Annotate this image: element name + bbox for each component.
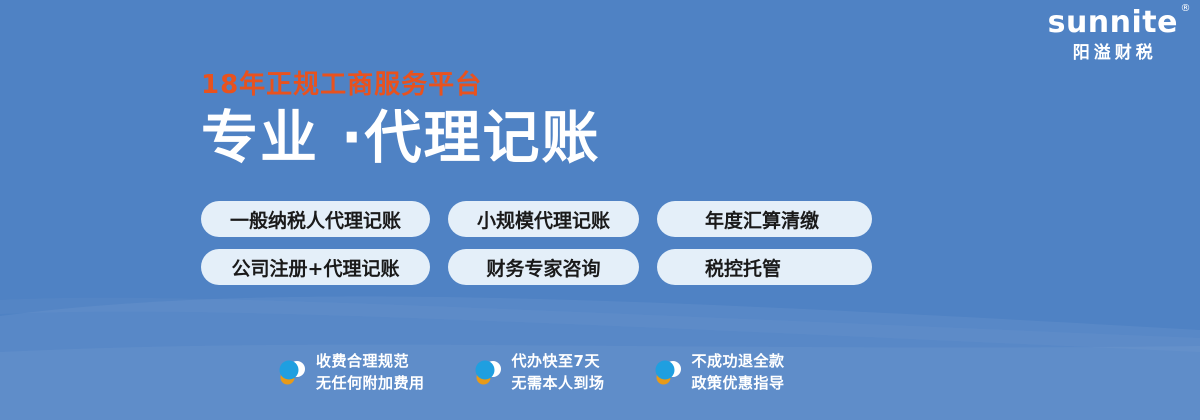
promo-banner: sunnite ® 阳溢财税 18年正规工商服务平台 专业 ·代理记账 一般纳税… — [0, 0, 1200, 420]
feature-item-pricing: 收费合理规范 无任何附加费用 — [276, 351, 425, 394]
service-pill-row: 公司注册+代理记账 财务专家咨询 税控托管 — [201, 249, 872, 285]
hero-kicker: 18年正规工商服务平台 — [201, 72, 601, 98]
feature-strip: 收费合理规范 无任何附加费用 代办快至7天 无需本人到场 — [276, 351, 785, 394]
three-circles-icon — [472, 358, 502, 388]
feature-item-guarantee-text: 不成功退全款 政策优惠指导 — [692, 351, 785, 394]
feature-item-speed-text: 代办快至7天 无需本人到场 — [512, 351, 605, 394]
service-pill-company-registration-bookkeeping[interactable]: 公司注册+代理记账 — [201, 249, 430, 285]
service-pill-small-scale-bookkeeping[interactable]: 小规模代理记账 — [448, 201, 639, 237]
swoosh-hairline — [0, 298, 1200, 352]
feature-line-1: 不成功退全款 — [692, 352, 785, 370]
feature-item-guarantee: 不成功退全款 政策优惠指导 — [652, 351, 785, 394]
logo-subtitle: 阳溢财税 — [1048, 45, 1178, 62]
logo-wordmark: sunnite ® — [1048, 8, 1178, 38]
feature-line-2: 无任何附加费用 — [316, 374, 425, 392]
hero-headline: 专业 ·代理记账 — [201, 108, 601, 170]
feature-item-pricing-text: 收费合理规范 无任何附加费用 — [316, 351, 425, 394]
service-pill-finance-expert-consulting[interactable]: 财务专家咨询 — [448, 249, 639, 285]
feature-line-1: 收费合理规范 — [316, 352, 409, 370]
logo-wordmark-text: sunnite — [1048, 5, 1178, 40]
service-pill-grid: 一般纳税人代理记账 小规模代理记账 年度汇算清缴 公司注册+代理记账 财务专家咨… — [201, 201, 872, 285]
service-pill-tax-control-custody[interactable]: 税控托管 — [657, 249, 872, 285]
feature-line-1: 代办快至7天 — [512, 352, 600, 370]
feature-line-2: 无需本人到场 — [512, 374, 605, 392]
three-circles-icon — [276, 358, 306, 388]
brand-logo[interactable]: sunnite ® 阳溢财税 — [1048, 8, 1178, 62]
service-pill-annual-tax-settlement[interactable]: 年度汇算清缴 — [657, 201, 872, 237]
three-circles-icon — [652, 358, 682, 388]
service-pill-row: 一般纳税人代理记账 小规模代理记账 年度汇算清缴 — [201, 201, 872, 237]
hero-text-block: 18年正规工商服务平台 专业 ·代理记账 — [201, 72, 601, 170]
registered-trademark-icon: ® — [1181, 4, 1192, 14]
feature-line-2: 政策优惠指导 — [692, 374, 785, 392]
feature-item-speed: 代办快至7天 无需本人到场 — [472, 351, 605, 394]
service-pill-general-taxpayer-bookkeeping[interactable]: 一般纳税人代理记账 — [201, 201, 430, 237]
